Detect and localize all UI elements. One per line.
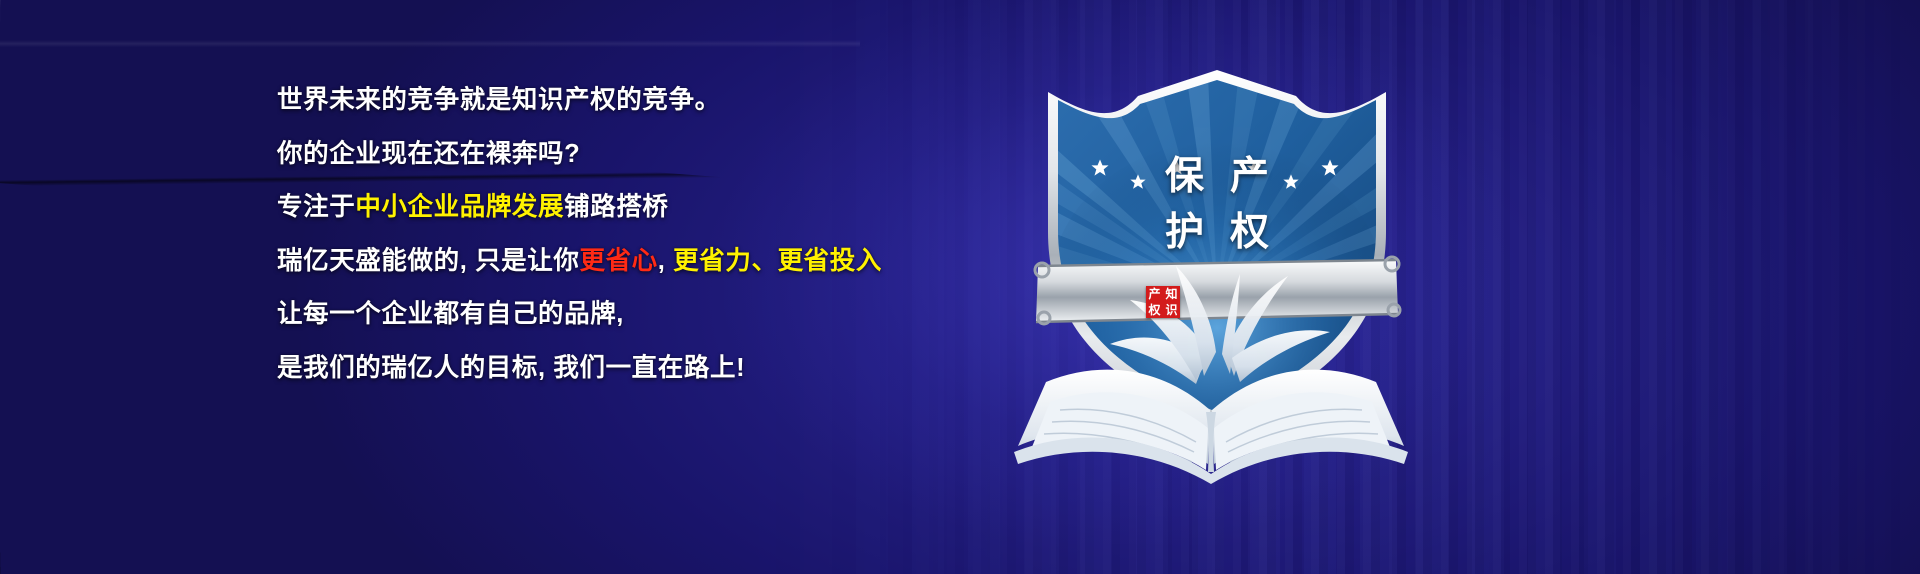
marketing-copy: 世界未来的竞争就是知识产权的竞争。 你的企业现在还在裸奔吗? 专注于中小企业品牌… xyxy=(277,88,917,381)
logo-artwork xyxy=(1000,60,1420,490)
copy-segment: 铺路搭桥 xyxy=(564,193,668,221)
copy-segment: 世界未来的竞争就是知识产权的竞争。 xyxy=(277,86,721,114)
copy-segment: 专注于 xyxy=(277,193,355,221)
shield-ribbon xyxy=(1035,257,1400,324)
shield-book-logo: 保 产 护 权 产 知 权 识 xyxy=(1000,60,1420,490)
copy-segment: 是我们的瑞亿人的目标, 我们一直在路上! xyxy=(277,354,745,382)
copy-line-5: 让每一个企业都有自己的品牌, xyxy=(277,302,917,328)
copy-segment: 瑞亿天盛能做的, 只是让你 xyxy=(277,247,579,275)
copy-segment: , xyxy=(658,247,673,275)
copy-line-6: 是我们的瑞亿人的目标, 我们一直在路上! xyxy=(277,356,917,382)
copy-segment: 你的企业现在还在裸奔吗? xyxy=(277,140,580,168)
copy-segment: 让每一个企业都有自己的品牌, xyxy=(277,300,624,328)
copy-line-1: 世界未来的竞争就是知识产权的竞争。 xyxy=(277,88,917,114)
copy-line-3: 专注于中小企业品牌发展铺路搭桥 xyxy=(277,195,917,221)
copy-line-2: 你的企业现在还在裸奔吗? xyxy=(277,142,917,168)
copy-segment-highlight-red: 更省心 xyxy=(579,247,657,275)
copy-segment-highlight: 更省力、更省投入 xyxy=(673,247,882,275)
copy-segment-highlight: 中小企业品牌发展 xyxy=(355,193,564,221)
promo-banner: 世界未来的竞争就是知识产权的竞争。 你的企业现在还在裸奔吗? 专注于中小企业品牌… xyxy=(0,0,1920,574)
copy-line-4: 瑞亿天盛能做的, 只是让你更省心, 更省力、更省投入 xyxy=(277,249,917,275)
